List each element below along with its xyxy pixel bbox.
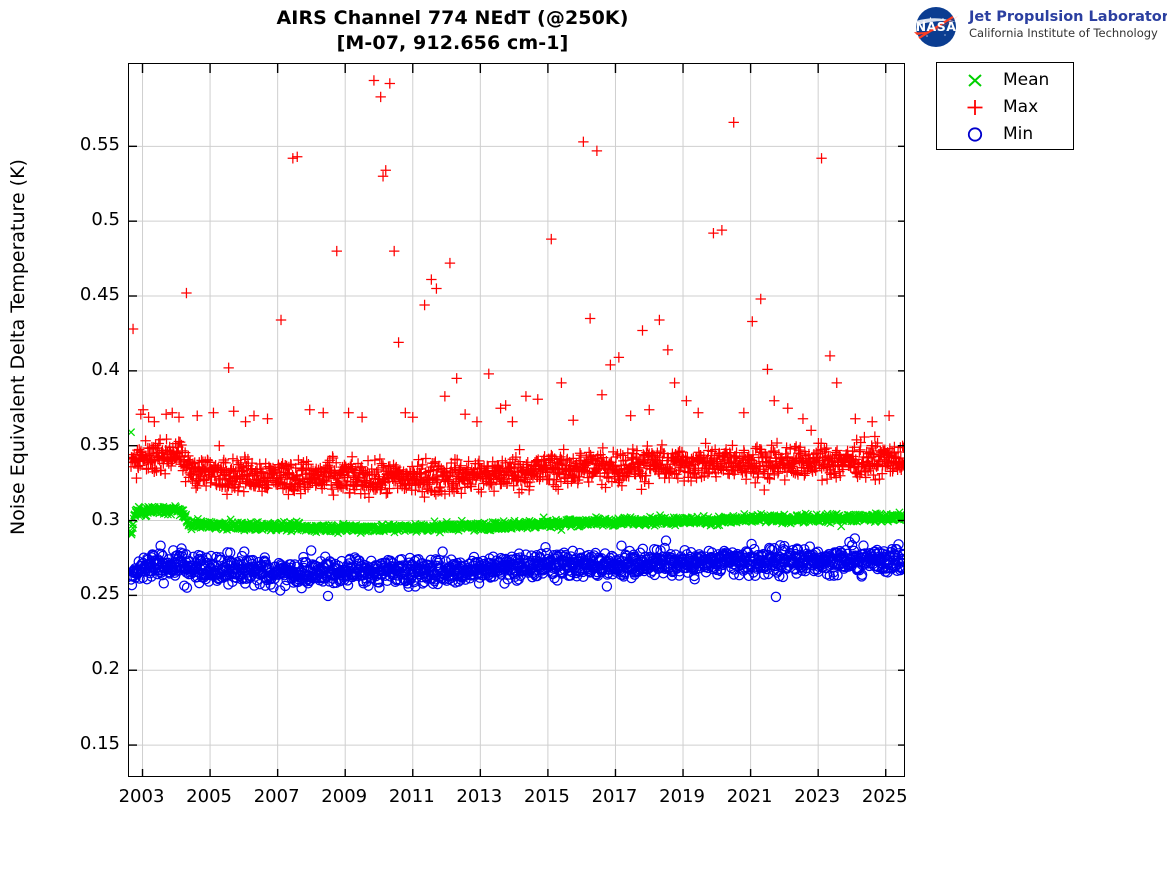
svg-text:NASA: NASA bbox=[916, 19, 957, 34]
y-tick-label: 0.5 bbox=[50, 209, 120, 231]
chart-title-line1: AIRS Channel 774 NEdT (@250K) bbox=[276, 7, 628, 29]
legend-label: Mean bbox=[1003, 67, 1049, 94]
chart-title-line2: [M-07, 912.656 cm-1] bbox=[0, 31, 905, 56]
y-tick-label: 0.4 bbox=[50, 359, 120, 381]
legend-label: Min bbox=[1003, 121, 1033, 148]
circle-marker-icon bbox=[957, 121, 993, 148]
legend-item-min[interactable]: Min bbox=[937, 121, 1073, 148]
page-title: AIRS Channel 774 NEdT (@250K) [M-07, 912… bbox=[0, 6, 905, 56]
jpl-title: Jet Propulsion Laboratory bbox=[969, 9, 1167, 26]
legend: MeanMaxMin bbox=[936, 62, 1074, 150]
jpl-branding-banner: NASA Jet Propulsion Laboratory Californi… bbox=[905, 4, 1163, 50]
y-tick-label: 0.55 bbox=[50, 134, 120, 156]
y-axis-title: Noise Equivalent Delta Temperature (K) bbox=[7, 67, 29, 627]
y-axis-tick-labels: 0.150.20.250.30.350.40.450.50.55 bbox=[38, 63, 120, 777]
x-axis-tick-labels: 2003200520072009201120132015201720192021… bbox=[128, 784, 905, 814]
x-marker-icon bbox=[957, 67, 993, 94]
jpl-subtitle: California Institute of Technology bbox=[969, 26, 1167, 41]
y-tick-label: 0.25 bbox=[50, 583, 120, 605]
legend-item-mean[interactable]: Mean bbox=[937, 67, 1073, 94]
plus-marker-icon bbox=[957, 94, 993, 121]
nasa-meatball-icon: NASA bbox=[907, 6, 965, 48]
y-tick-label: 0.3 bbox=[50, 509, 120, 531]
legend-item-max[interactable]: Max bbox=[937, 94, 1073, 121]
y-tick-label: 0.35 bbox=[50, 434, 120, 456]
x-tick-label: 2025 bbox=[845, 784, 925, 810]
legend-label: Max bbox=[1003, 94, 1038, 121]
axis-tick-marks bbox=[129, 64, 904, 776]
y-tick-label: 0.45 bbox=[50, 284, 120, 306]
plot-area bbox=[128, 63, 905, 777]
jpl-text-block: Jet Propulsion Laboratory California Ins… bbox=[969, 9, 1167, 41]
y-tick-label: 0.2 bbox=[50, 658, 120, 680]
y-tick-label: 0.15 bbox=[50, 733, 120, 755]
